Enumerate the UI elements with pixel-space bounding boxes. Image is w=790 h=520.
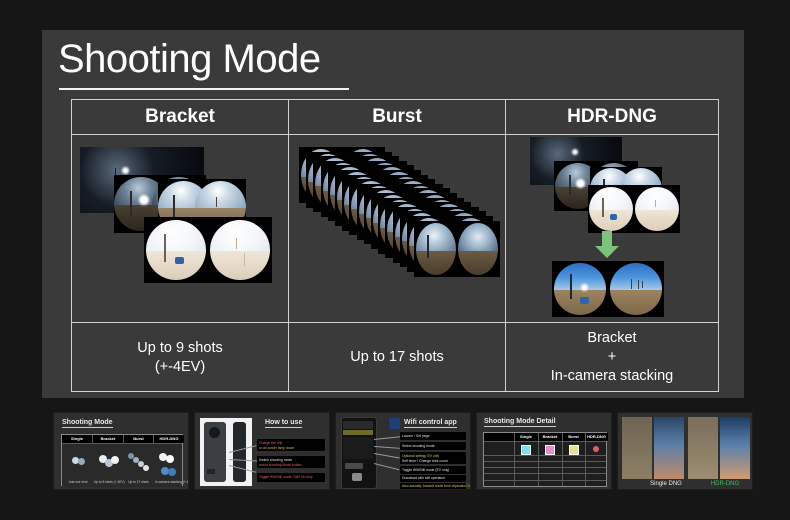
slide-thumbnail-strip: Shooting Mode Single Bracket Burst HDR-D… xyxy=(0,408,790,498)
thumbnail-how-to-use-title: How to use xyxy=(265,419,302,428)
burst-frame xyxy=(414,221,500,277)
burst-description: Up to 17 shots xyxy=(289,323,505,392)
thumb4-col-blank xyxy=(484,433,514,441)
hdr-description-line-2: + xyxy=(608,348,616,367)
table-header-bracket: Bracket xyxy=(72,100,288,134)
thumb5-label-hdr-dng: HDR-DNG xyxy=(700,481,750,487)
page-title: Shooting Mode xyxy=(58,36,321,82)
burst-description-line-1: Up to 17 shots xyxy=(350,348,444,367)
hdr-description-line-3: In-camera stacking xyxy=(551,367,674,386)
thumb4-col-hdr: HDR-DNG xyxy=(585,433,608,441)
thumb1-caption-bracket: Up to 9 shots (+-4EV) xyxy=(94,480,122,484)
thumb3-anno3-line1: Optional setting: EV only xyxy=(402,454,439,458)
thumbnail-dng-comparison[interactable]: Single DNG HDR-DNG xyxy=(617,412,753,490)
thumb5-label-single-dng: Single DNG xyxy=(636,481,696,487)
thumb3-anno1: Launch / Set page xyxy=(402,434,430,438)
thumb1-caption-burst: Up to 17 shots xyxy=(125,480,152,484)
bracket-description-line-1: Up to 9 shots xyxy=(137,339,222,358)
bracket-shot-bright xyxy=(144,217,272,283)
merge-arrow-icon xyxy=(594,231,620,259)
thumb4-col-bracket: Bracket xyxy=(538,433,562,441)
thumb2-anno1-line1: Charge the unit xyxy=(259,441,282,445)
thumb3-anno2: Select shooting mode xyxy=(402,444,435,448)
thumb2-anno2-line2: would shooting Mode button xyxy=(259,463,301,467)
thumbnail-wifi-control-app[interactable]: Wifi control app Launch / Set page Selec… xyxy=(335,412,471,490)
thumb3-anno5: Download with wifi operation xyxy=(402,476,445,480)
thumb4-col-burst: Burst xyxy=(562,433,585,441)
thumbnail-shooting-mode[interactable]: Shooting Mode Single Bracket Burst HDR-D… xyxy=(53,412,189,490)
thumb3-anno6: Also actually: bracket shots from clipbo… xyxy=(402,484,471,488)
bracket-media-group xyxy=(72,135,288,322)
thumbnail-shooting-mode-detail[interactable]: Shooting Mode Detail Single Bracket Burs… xyxy=(476,412,612,490)
table-header-hdr-dng: HDR-DNG xyxy=(506,100,718,134)
hdr-media-group xyxy=(506,135,718,322)
bracket-description: Up to 9 shots (+-4EV) xyxy=(72,323,288,392)
thumb1-col-bracket: Bracket xyxy=(93,435,123,443)
table-header-burst: Burst xyxy=(289,100,505,134)
thumb2-anno1-line2: or an power lamp down xyxy=(259,446,294,450)
thumb1-col-hdr: HDR-DNG xyxy=(154,435,184,443)
thumbnail-wifi-control-app-title: Wifi control app xyxy=(404,419,457,428)
thumb4-col-single: Single xyxy=(514,433,538,441)
title-underline xyxy=(59,88,349,90)
hdr-description-line-1: Bracket xyxy=(587,329,636,348)
thumb2-anno3-line1: Toggle Wifi/Still mode / Wifi On only xyxy=(259,475,313,479)
thumb1-col-burst: Burst xyxy=(124,435,153,443)
thumbnail-shooting-mode-detail-title: Shooting Mode Detail xyxy=(484,418,556,427)
thumbnail-shooting-mode-title: Shooting Mode xyxy=(62,419,113,428)
bracket-description-line-2: (+-4EV) xyxy=(155,358,205,377)
hdr-shot-bright xyxy=(588,185,680,233)
slide-panel: Shooting Mode Bracket Burst HDR-DNG xyxy=(42,30,744,398)
burst-frame-stack xyxy=(289,135,505,322)
thumb3-anno4: Toggle Wifi/Still mode (EV only) xyxy=(402,468,449,472)
shooting-mode-table: Bracket Burst HDR-DNG xyxy=(71,99,719,392)
thumb1-caption-hdr: In-camera stacking (+-4EV) xyxy=(155,480,183,484)
hdr-description: Bracket + In-camera stacking xyxy=(506,323,718,392)
thumb1-col-single: Single xyxy=(62,435,92,443)
thumb2-anno2-line1: Switch shooting mode xyxy=(259,458,292,462)
thumbnail-how-to-use[interactable]: How to use Charge the unit or an power l… xyxy=(194,412,330,490)
thumb1-caption-single: Just one shot xyxy=(64,480,92,484)
burst-media-group xyxy=(289,135,505,322)
thumb3-anno3-line2: Self timer / Change shot count xyxy=(402,459,448,463)
hdr-result-image xyxy=(552,261,664,317)
